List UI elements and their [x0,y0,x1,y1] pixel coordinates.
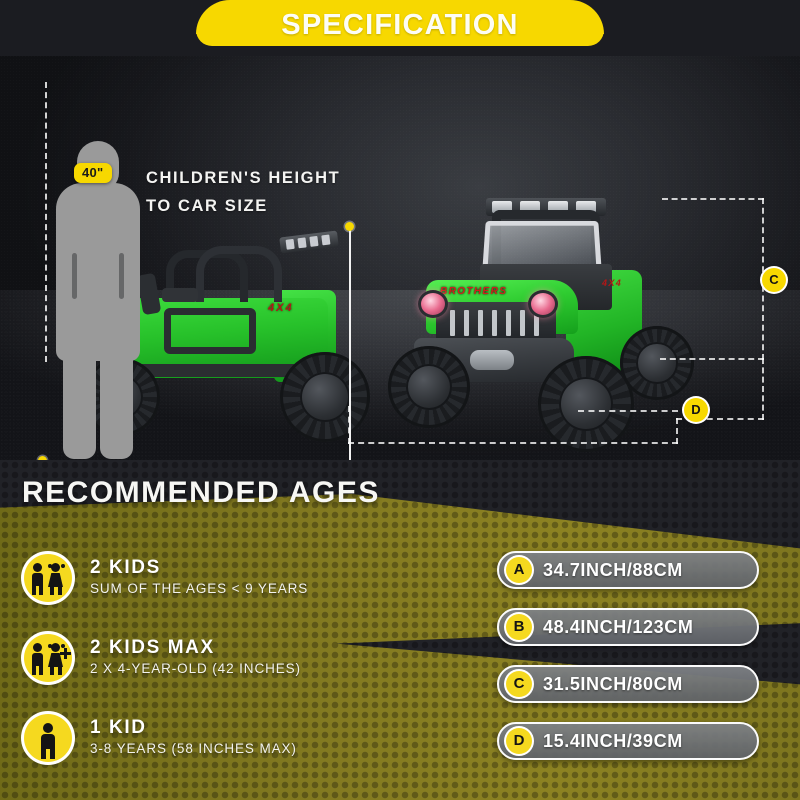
age-subtitle: 3-8 YEARS (58 INCHES MAX) [90,739,297,759]
measure-endpoint-top [345,222,354,231]
page-title: SPECIFICATION [0,4,800,46]
dimension-line-d [578,410,678,412]
pill-value: 34.7INCH/88CM [543,560,683,581]
age-row-two-kids: 2 KIDS SUM OF THE AGES < 9 YEARS [24,554,308,602]
headlight-left-icon [418,290,448,318]
silhouette-torso [56,183,140,361]
caption-line-1: CHILDREN'S HEIGHT [146,164,340,192]
side-door-bar [164,308,256,354]
pill-marker: C [506,671,532,697]
grille-brand-badge: BROTHERS [440,286,507,297]
pill-value: 48.4INCH/123CM [543,617,693,638]
winch-icon [470,350,514,370]
dimension-line-a [348,442,678,444]
rear-right-wheel [620,326,694,400]
silhouette-leg-left [63,339,96,459]
specification-infographic: SPECIFICATION 4X4 [0,0,800,800]
dimension-line-c-base [660,358,764,360]
height-caption: CHILDREN'S HEIGHT TO CAR SIZE [146,164,340,220]
side-4x4-decal: 4X4 [268,302,294,314]
age-title: 1 KID [90,717,297,739]
pill-marker: B [506,614,532,640]
measure-endpoint-bottom [38,456,47,460]
side-rear-wheel [280,352,370,442]
headlight-right-icon [528,290,558,318]
front-4x4-decal: 4X4 [602,278,622,288]
side-seat-base [162,288,198,302]
dimension-pill-d: D 15.4INCH/39CM [497,722,759,760]
child-silhouette [52,141,144,459]
age-row-two-kids-max: 2 KIDS MAX 2 X 4-YEAR-OLD (42 INCHES) [24,634,301,682]
age-title: 2 KIDS [90,557,308,579]
dimension-line-c-top [662,198,764,200]
product-photo-area: 4X4 40" CHILDREN'S HEIGHT TO CAR SIZE [0,46,800,460]
dimension-pill-c: C 31.5INCH/80CM [497,665,759,703]
side-light-bar-icon [279,231,339,254]
dimension-marker-c: C [762,268,786,292]
two-kids-max-icon [24,634,72,682]
front-view-vehicle: BROTHERS 4X4 [388,198,694,454]
two-kids-icon [24,554,72,602]
dimension-line-b-rise [762,358,764,420]
caption-line-2: TO CAR SIZE [146,192,340,220]
recommended-ages-section: RECOMMENDED AGES 2 KIDS SUM OF THE AGES … [0,460,800,800]
front-left-wheel [388,346,470,428]
age-row-one-kid: 1 KID 3-8 YEARS (58 INCHES MAX) [24,714,297,762]
pill-marker: A [506,557,532,583]
pill-value: 31.5INCH/80CM [543,674,683,695]
dimension-marker-d: D [684,398,708,422]
dimension-pill-b: B 48.4INCH/123CM [497,608,759,646]
silhouette-leg-right [100,339,133,459]
side-roll-cage-rear [196,246,282,302]
silhouette-arm-gap-right [119,253,124,299]
dimension-line-b-drop [676,418,678,444]
pill-value: 15.4INCH/39CM [543,731,683,752]
silhouette-arm-gap-left [72,253,77,299]
section-title: RECOMMENDED AGES [22,476,380,510]
age-title: 2 KIDS MAX [90,637,301,659]
pill-marker: D [506,728,532,754]
dimension-line-a-tick [348,406,350,444]
age-subtitle: SUM OF THE AGES < 9 YEARS [90,579,308,599]
front-right-wheel [538,356,634,452]
dimension-pill-a: A 34.7INCH/88CM [497,551,759,589]
age-subtitle: 2 X 4-YEAR-OLD (42 INCHES) [90,659,301,679]
height-badge: 40" [74,163,112,183]
height-dashed-line [45,82,47,362]
one-kid-icon [24,714,72,762]
